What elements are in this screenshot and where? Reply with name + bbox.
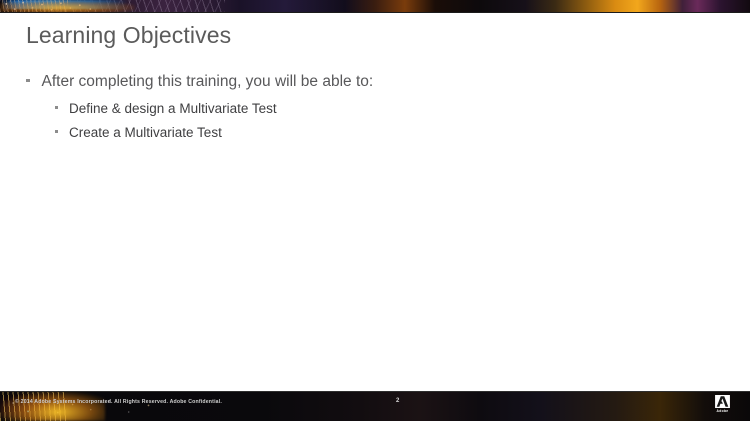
copyright-text: © 2014 Adobe Systems Incorporated. All R… (15, 399, 222, 405)
footer-decorative-banner: © 2014 Adobe Systems Incorporated. All R… (0, 391, 750, 421)
footer-flame-glow (0, 391, 105, 421)
banner-bottom-divider (0, 12, 750, 13)
bullet-text: Define & design a Multivariate Test (69, 100, 277, 119)
bullet-square-icon (26, 79, 30, 83)
bullet-text: After completing this training, you will… (42, 72, 374, 93)
bullet-square-icon (55, 106, 58, 109)
adobe-a-icon (715, 395, 730, 408)
page-title: Learning Objectives (26, 22, 231, 49)
bullet-square-icon (55, 130, 58, 133)
slide-canvas: Learning Objectives After completing thi… (0, 0, 750, 421)
top-decorative-banner (0, 0, 750, 13)
footer-top-divider (0, 391, 750, 392)
list-item: Define & design a Multivariate Test (55, 100, 716, 119)
adobe-logo: Adobe (712, 395, 733, 417)
adobe-wordmark: Adobe (716, 409, 728, 413)
slide-body: After completing this training, you will… (26, 72, 716, 148)
list-item: After completing this training, you will… (26, 72, 716, 93)
page-number: 2 (396, 398, 399, 404)
list-item: Create a Multivariate Test (55, 124, 716, 143)
bullet-text: Create a Multivariate Test (69, 124, 222, 143)
